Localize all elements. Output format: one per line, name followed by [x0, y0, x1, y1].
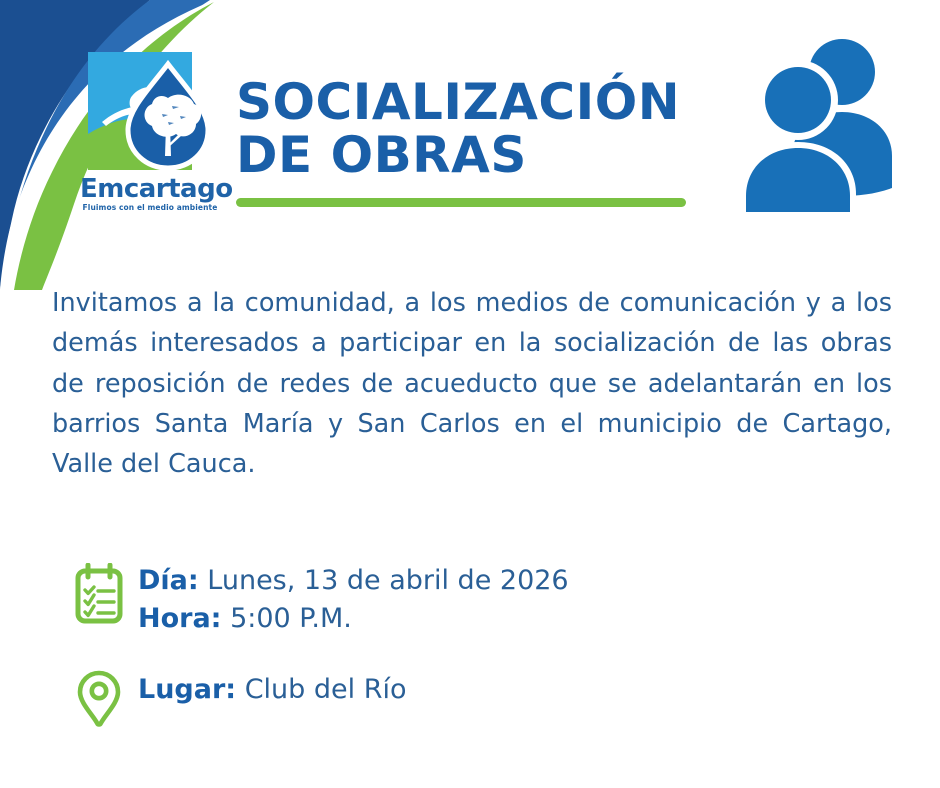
schedule-text: Día: Lunes, 13 de abril de 2026 Hora: 5:… — [130, 558, 569, 639]
title-block: SOCIALIZACIÓN DE OBRAS — [236, 76, 706, 207]
map-pin-icon — [77, 669, 121, 729]
place-value: Club del Río — [245, 674, 407, 705]
poster-header: Emcartago Fluimos con el medio ambiente … — [0, 0, 940, 250]
detail-line-place: Lugar: Club del Río — [138, 671, 407, 709]
logo-wordmark: Emcartago — [80, 176, 220, 202]
detail-line-time: Hora: 5:00 P.M. — [138, 600, 569, 638]
two-people-icon — [746, 32, 896, 212]
place-label: Lugar: — [138, 674, 236, 705]
detail-row-place: Lugar: Club del Río — [68, 667, 888, 729]
logo-tagline: Fluimos con el medio ambiente — [80, 204, 220, 212]
event-details: Día: Lunes, 13 de abril de 2026 Hora: 5:… — [68, 558, 888, 757]
poster-canvas: Emcartago Fluimos con el medio ambiente … — [0, 0, 940, 788]
detail-line-day: Día: Lunes, 13 de abril de 2026 — [138, 562, 569, 600]
place-text: Lugar: Club del Río — [130, 667, 407, 709]
day-label: Día: — [138, 565, 199, 596]
brand-logo: Emcartago Fluimos con el medio ambiente — [80, 48, 220, 223]
body-paragraph: Invitamos a la comunidad, a los medios d… — [52, 283, 892, 484]
map-pin-icon-wrap — [68, 667, 130, 729]
detail-row-schedule: Día: Lunes, 13 de abril de 2026 Hora: 5:… — [68, 558, 888, 639]
day-value: Lunes, 13 de abril de 2026 — [207, 565, 568, 596]
calendar-checklist-icon — [72, 563, 126, 625]
title-underline-rule — [236, 198, 686, 207]
time-label: Hora: — [138, 603, 221, 634]
time-value: 5:00 P.M. — [230, 603, 352, 634]
emcartago-logo-icon — [80, 48, 220, 176]
page-title: SOCIALIZACIÓN DE OBRAS — [236, 76, 706, 182]
calendar-checklist-icon-wrap — [68, 558, 130, 628]
